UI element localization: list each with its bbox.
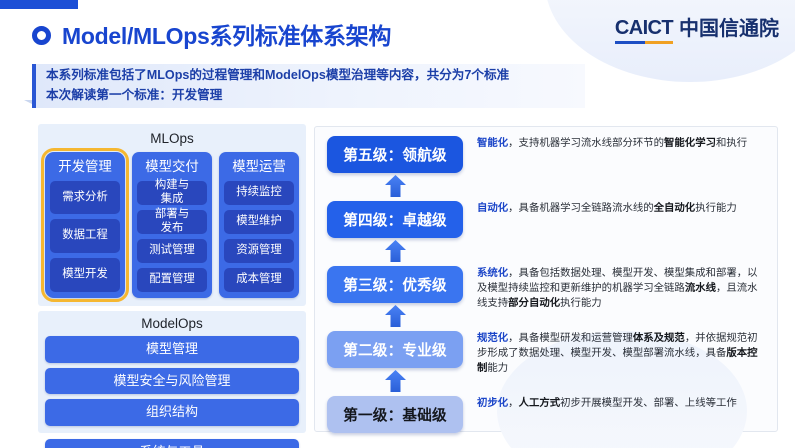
maturity-level-description: 系统化，具备包括数据处理、模型开发、模型集成和部署，以及模型持续监控和更新维护的… [477, 266, 767, 311]
mlops-item[interactable]: 测试管理 [137, 239, 207, 263]
level-text: 执行能力 [695, 203, 737, 214]
maturity-level-row-5: 第五级：领航级智能化，支持机器学习流水线部分环节的智能化学习和执行 [315, 136, 779, 173]
mlops-item[interactable]: 需求分析 [50, 181, 120, 215]
mlops-column-2[interactable]: 模型交付构建与 集成部署与 发布测试管理配置管理 [132, 152, 212, 298]
mlops-column-title: 模型运营 [224, 156, 294, 181]
modelops-items: 模型管理模型安全与风险管理组织结构 [45, 336, 299, 426]
ring-icon [32, 26, 51, 45]
level-text: ，支持机器学习流水线部分环节的 [508, 138, 664, 149]
mlops-item[interactable]: 模型开发 [50, 258, 120, 292]
modelops-caption: ModelOps [45, 313, 299, 337]
maturity-level-description: 自动化，具备机器学习全链路流水线的全自动化执行能力 [477, 201, 767, 217]
logo-chinese-name: 中国信通院 [679, 12, 779, 44]
subtitle-line-1: 本系列标准包括了MLOps的过程管理和ModelOps模型治理等内容，共分为7个… [46, 66, 577, 86]
level-emphasis: 全自动化 [654, 203, 696, 214]
maturity-level-description: 智能化，支持机器学习流水线部分环节的智能化学习和执行 [477, 136, 767, 152]
logo-mark-text: CAICT [615, 17, 673, 44]
mlops-item[interactable]: 构建与 集成 [137, 181, 207, 205]
arrow-up-icon [383, 239, 408, 263]
top-accent-bar [0, 0, 78, 9]
maturity-level-description: 初步化，人工方式初步开展模型开发、部署、上线等工作 [477, 396, 767, 412]
level-text: 执行能力 [560, 298, 602, 309]
level-keyword: 系统化 [477, 268, 508, 279]
maturity-level-row-1: 第一级：基础级初步化，人工方式初步开展模型开发、部署、上线等工作 [315, 396, 779, 433]
mlops-item[interactable]: 配置管理 [137, 268, 207, 292]
level-keyword: 自动化 [477, 203, 508, 214]
maturity-ladder: 第五级：领航级智能化，支持机器学习流水线部分环节的智能化学习和执行第四级：卓越级… [315, 127, 779, 433]
mlops-item[interactable]: 数据工程 [50, 219, 120, 253]
level-emphasis: 体系及规范 [633, 333, 685, 344]
mlops-caption: MLOps [45, 128, 299, 152]
system-and-tools-bar: 系统与工具 [45, 439, 299, 448]
mlops-item[interactable]: 模型维护 [224, 210, 294, 234]
arrow-up-icon [383, 304, 408, 328]
level-keyword: 初步化 [477, 398, 508, 409]
modelops-item[interactable]: 模型管理 [45, 336, 299, 363]
level-emphasis: 部分自动化 [508, 298, 560, 309]
mlops-column-items: 构建与 集成部署与 发布测试管理配置管理 [137, 181, 207, 292]
page-title: Model/MLOps系列标准体系架构 [62, 17, 391, 51]
level-keyword: 规范化 [477, 333, 508, 344]
level-text: 能力 [487, 363, 508, 374]
title-row: Model/MLOps系列标准体系架构 [32, 17, 391, 51]
maturity-level-row-4: 第四级：卓越级自动化，具备机器学习全链路流水线的全自动化执行能力 [315, 201, 779, 238]
maturity-levels-panel: 第五级：领航级智能化，支持机器学习流水线部分环节的智能化学习和执行第四级：卓越级… [314, 126, 778, 432]
level-text: 初步开展模型开发、部署、上线等工作 [560, 398, 737, 409]
caict-logo: CAICT 中国信通院 [615, 12, 779, 44]
mlops-column-items: 需求分析数据工程模型开发 [50, 181, 120, 292]
level-emphasis: 人工方式 [519, 398, 561, 409]
standards-architecture-panel: MLOps 开发管理需求分析数据工程模型开发模型交付构建与 集成部署与 发布测试… [38, 124, 306, 436]
mlops-column-title: 开发管理 [50, 156, 120, 181]
maturity-level-badge[interactable]: 第二级：专业级 [327, 331, 463, 368]
maturity-level-badge[interactable]: 第一级：基础级 [327, 396, 463, 433]
modelops-group: ModelOps 模型管理模型安全与风险管理组织结构 [38, 311, 306, 433]
slide-root: Model/MLOps系列标准体系架构 CAICT 中国信通院 本系列标准包括了… [0, 0, 795, 448]
subtitle-banner: 本系列标准包括了MLOps的过程管理和ModelOps模型治理等内容，共分为7个… [32, 64, 585, 108]
mlops-item[interactable]: 持续监控 [224, 181, 294, 205]
mlops-column-title: 模型交付 [137, 156, 207, 181]
level-text: ，具备机器学习全链路流水线的 [508, 203, 653, 214]
level-text: ，具备模型研发和运营管理 [508, 333, 633, 344]
level-keyword: 智能化 [477, 138, 508, 149]
level-text: ， [508, 398, 518, 409]
subtitle-line-2: 本次解读第一个标准：开发管理 [46, 86, 577, 106]
mlops-column-3[interactable]: 模型运营持续监控模型维护资源管理成本管理 [219, 152, 299, 298]
modelops-item[interactable]: 组织结构 [45, 399, 299, 426]
level-emphasis: 智能化学习 [664, 138, 716, 149]
arrow-up-icon [383, 369, 408, 393]
mlops-item[interactable]: 成本管理 [224, 268, 294, 292]
modelops-item[interactable]: 模型安全与风险管理 [45, 368, 299, 395]
level-emphasis: 流水线 [685, 283, 716, 294]
mlops-item[interactable]: 资源管理 [224, 239, 294, 263]
level-text: 和执行 [716, 138, 747, 149]
maturity-level-badge[interactable]: 第五级：领航级 [327, 136, 463, 173]
mlops-column-1[interactable]: 开发管理需求分析数据工程模型开发 [45, 152, 125, 298]
arrow-up-icon [383, 174, 408, 198]
mlops-item[interactable]: 部署与 发布 [137, 210, 207, 234]
maturity-level-badge[interactable]: 第四级：卓越级 [327, 201, 463, 238]
mlops-columns: 开发管理需求分析数据工程模型开发模型交付构建与 集成部署与 发布测试管理配置管理… [45, 152, 299, 298]
maturity-level-badge[interactable]: 第三级：优秀级 [327, 266, 463, 303]
mlops-group: MLOps 开发管理需求分析数据工程模型开发模型交付构建与 集成部署与 发布测试… [38, 124, 306, 306]
maturity-level-description: 规范化，具备模型研发和运营管理体系及规范，并依据规范初步形成了数据处理、模型开发… [477, 331, 767, 376]
mlops-column-items: 持续监控模型维护资源管理成本管理 [224, 181, 294, 292]
